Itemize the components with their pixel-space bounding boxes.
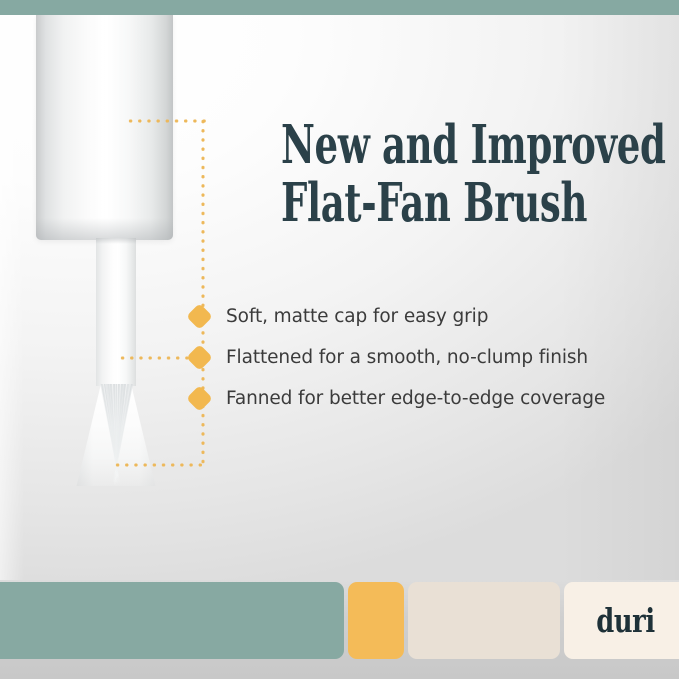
headline-line-2: Flat-Fan Brush bbox=[281, 178, 547, 230]
leader-line-top-horizontal bbox=[126, 119, 206, 123]
nail-polish-cap bbox=[36, 15, 173, 240]
teal-swatch bbox=[0, 582, 344, 659]
cap-shadow bbox=[36, 218, 173, 240]
cream-swatch: duri bbox=[564, 582, 679, 659]
feature-label: Soft, matte cap for easy grip bbox=[226, 306, 488, 327]
flat-fan-bristles bbox=[58, 384, 174, 486]
list-item: Soft, matte cap for easy grip bbox=[190, 296, 660, 337]
list-item: Fanned for better edge-to-edge coverage bbox=[190, 378, 660, 419]
diamond-bullet-icon bbox=[186, 385, 213, 412]
brand-colorbar: duri bbox=[0, 582, 679, 659]
brush-stem bbox=[96, 238, 136, 386]
product-feature-graphic: New and Improved Flat-Fan Brush Soft, ma… bbox=[0, 0, 679, 679]
orange-swatch bbox=[348, 582, 404, 659]
bristle-shading bbox=[58, 384, 174, 486]
cap-highlight bbox=[96, 15, 111, 240]
diamond-bullet-icon bbox=[186, 303, 213, 330]
stem-top-edge bbox=[96, 238, 136, 244]
diamond-bullet-icon bbox=[186, 344, 213, 371]
feature-label: Fanned for better edge-to-edge coverage bbox=[226, 388, 605, 409]
leader-line-bottom-horizontal bbox=[113, 463, 205, 467]
feature-list: Soft, matte cap for easy grip Flattened … bbox=[190, 296, 660, 419]
feature-label: Flattened for a smooth, no-clump finish bbox=[226, 347, 588, 368]
brand-logo: duri bbox=[596, 604, 655, 637]
headline-line-1: New and Improved bbox=[281, 120, 547, 172]
list-item: Flattened for a smooth, no-clump finish bbox=[190, 337, 660, 378]
beige-swatch bbox=[408, 582, 560, 659]
page-title: New and Improved Flat-Fan Brush bbox=[281, 120, 547, 230]
top-teal-strip bbox=[0, 0, 679, 15]
